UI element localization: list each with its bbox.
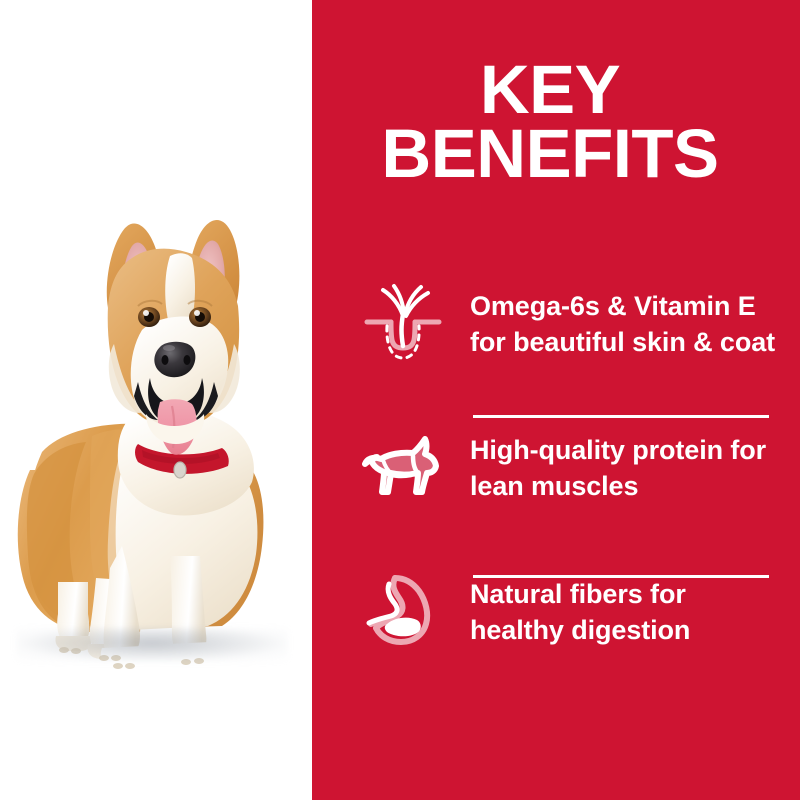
- benefit-text: High-quality protein for lean muscles: [470, 432, 780, 504]
- corgi-illustration: [0, 0, 312, 800]
- benefit-text: Omega-6s & Vitamin E for beautiful skin …: [470, 288, 780, 360]
- title-line-2: BENEFITS: [322, 122, 778, 186]
- page-title: KEY BENEFITS: [322, 58, 778, 186]
- benefit-text: Natural fibers for healthy digestion: [470, 576, 780, 648]
- ground-shadow: [16, 628, 288, 662]
- benefit-item-digestion: Natural fibers for healthy digestion: [312, 540, 800, 684]
- benefit-item-protein: High-quality protein for lean muscles: [312, 396, 800, 540]
- benefits-panel: KEY BENEFITS: [312, 0, 800, 800]
- dog-silhouette-icon: [360, 425, 446, 511]
- key-benefits-banner: KEY BENEFITS: [0, 0, 800, 800]
- corgi-photo: [0, 0, 312, 800]
- hair-follicle-icon: [360, 281, 446, 367]
- benefit-item-skin-coat: Omega-6s & Vitamin E for beautiful skin …: [312, 252, 800, 396]
- product-photo-panel: [0, 0, 312, 800]
- stomach-icon: [360, 569, 446, 655]
- benefits-list: Omega-6s & Vitamin E for beautiful skin …: [312, 252, 800, 684]
